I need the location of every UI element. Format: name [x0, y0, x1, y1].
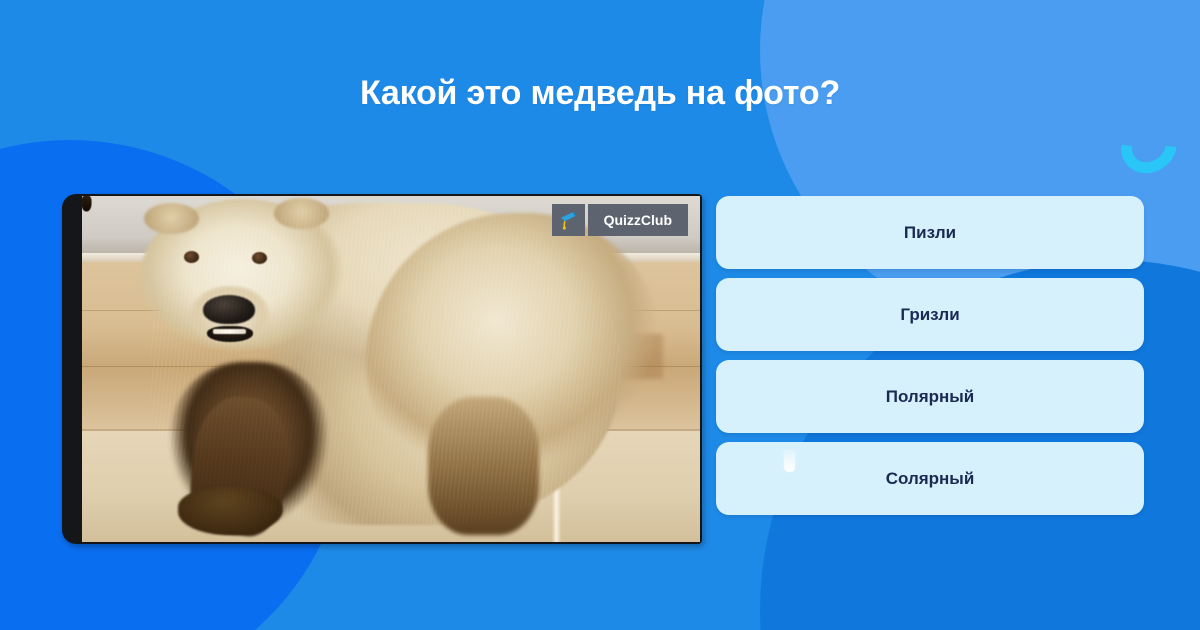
- answer-option-2-label: Гризли: [900, 305, 959, 325]
- answer-option-3-label: Полярный: [886, 387, 975, 407]
- answer-option-1[interactable]: Пизли: [716, 196, 1144, 269]
- answer-option-4[interactable]: Солярный: [716, 442, 1144, 515]
- answer-option-3[interactable]: Полярный: [716, 360, 1144, 433]
- bear-fur-texture: [150, 203, 620, 525]
- text-cursor-icon: [784, 450, 795, 472]
- photo-scene: [82, 196, 700, 542]
- answer-options-list: Пизли Гризли Полярный Солярный: [716, 196, 1144, 515]
- answer-option-2[interactable]: Гризли: [716, 278, 1144, 351]
- bear-ear-left: [144, 203, 200, 234]
- watermark: QuizzClub: [552, 204, 688, 236]
- watermark-label: QuizzClub: [588, 204, 688, 236]
- answer-option-1-label: Пизли: [904, 223, 956, 243]
- graduation-cap-icon: [552, 204, 585, 236]
- page-title: Какой это медведь на фото?: [0, 74, 1200, 113]
- answer-option-4-label: Солярный: [886, 469, 975, 489]
- question-photo-card: QuizzClub: [62, 194, 702, 544]
- question-photo: QuizzClub: [82, 196, 700, 542]
